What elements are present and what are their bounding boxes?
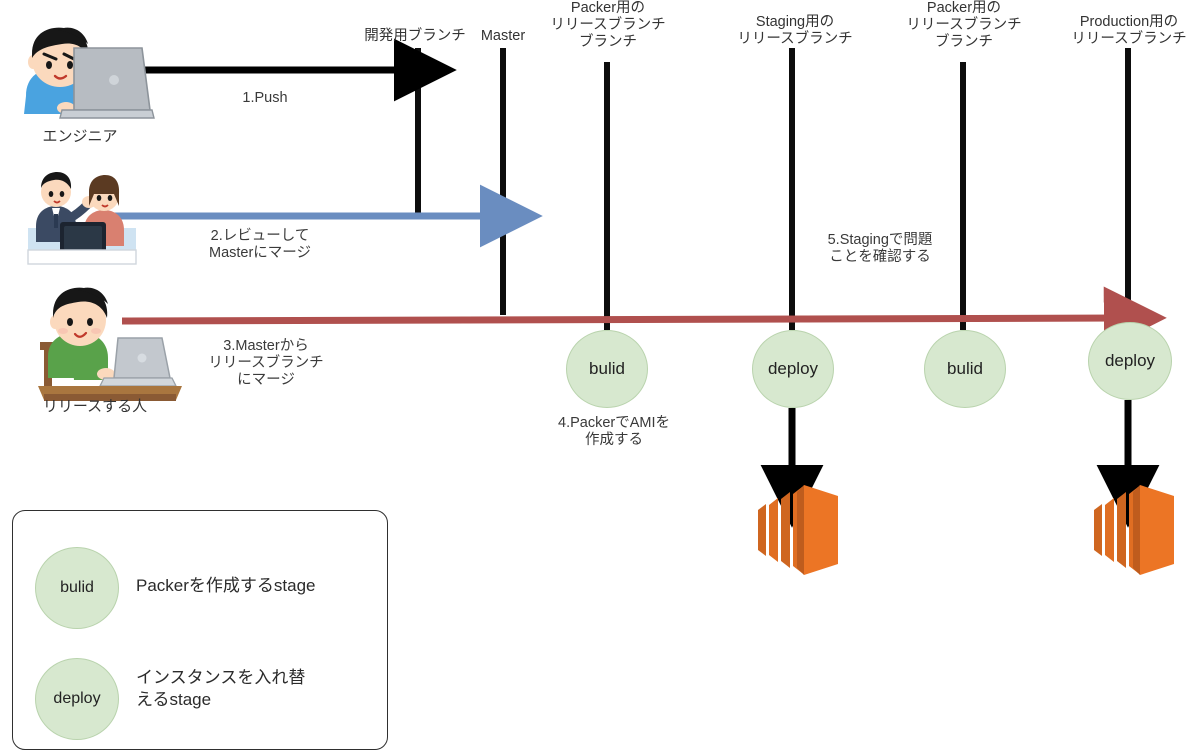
column-header-production-release-branch: Production用の リリースブランチ xyxy=(1048,14,1200,48)
branch-line-master xyxy=(500,48,506,315)
releaser-illustration xyxy=(38,288,182,401)
engineer-illustration xyxy=(24,28,154,118)
step-label-4-packer-ami: 4.PackerでAMIを 作成する xyxy=(524,415,704,449)
actor-label-engineer: エンジニア xyxy=(0,128,160,146)
step-label-3-release-merge: 3.Masterから リリースブランチ にマージ xyxy=(176,338,356,389)
step-label-2-review-merge: 2.レビューして Masterにマージ xyxy=(160,228,360,262)
legend-badge-deploy-label: deploy xyxy=(53,690,100,708)
step-label-5-staging-check: 5.Stagingで問題 ことを確認する xyxy=(790,232,970,266)
legend-badge-build: bulid xyxy=(35,547,119,629)
stage-node-deploy-2-label: deploy xyxy=(1105,351,1155,371)
ec2-instance-production-icon xyxy=(1094,485,1174,575)
branch-line-packer-2 xyxy=(960,62,966,330)
stage-node-deploy-2[interactable]: deploy xyxy=(1088,322,1172,400)
column-header-packer-release-branch-2: Packer用の リリースブランチ ブランチ xyxy=(888,0,1040,51)
actor-label-releaser: リリースする人 xyxy=(10,398,180,416)
legend-badge-deploy: deploy xyxy=(35,658,119,740)
legend-text-build: Packerを作成するstage xyxy=(136,575,376,597)
column-header-packer-release-branch-1: Packer用の リリースブランチ ブランチ xyxy=(532,0,684,51)
branch-line-production xyxy=(1125,48,1131,330)
branch-line-packer-1 xyxy=(604,62,610,330)
column-header-staging-release-branch: Staging用の リリースブランチ xyxy=(716,14,874,48)
stage-node-build-1-label: bulid xyxy=(589,359,625,379)
arrow-release-merge xyxy=(122,318,1122,321)
stage-node-deploy-1-label: deploy xyxy=(768,359,818,379)
stage-node-build-2-label: bulid xyxy=(947,359,983,379)
ec2-instance-staging-icon xyxy=(758,485,838,575)
reviewers-illustration xyxy=(28,172,136,264)
legend-box: bulid Packerを作成するstage deploy インスタンスを入れ替… xyxy=(12,510,388,750)
stage-node-build-1[interactable]: bulid xyxy=(566,330,648,408)
step-label-1-push: 1.Push xyxy=(180,90,350,107)
stage-node-deploy-1[interactable]: deploy xyxy=(752,330,834,408)
branch-line-dev xyxy=(415,48,421,217)
branch-lines xyxy=(415,48,1131,330)
branch-line-staging xyxy=(789,48,795,330)
legend-text-deploy: インスタンスを入れ替 えるstage xyxy=(136,667,366,711)
legend-badge-build-label: bulid xyxy=(60,579,94,597)
stage-node-build-2[interactable]: bulid xyxy=(924,330,1006,408)
